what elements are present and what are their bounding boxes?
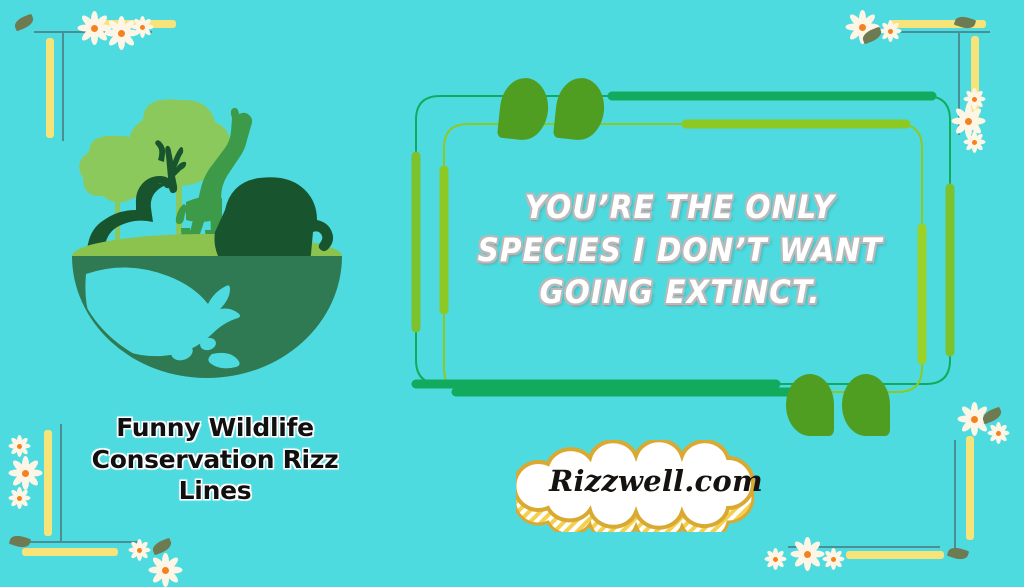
leaf-icon <box>151 538 174 556</box>
quote-text: YOU’RE THE ONLY SPECIES I DON’T WANT GOI… <box>441 186 919 314</box>
leaf-icon <box>13 14 36 32</box>
flower-icon <box>77 11 111 45</box>
quote-line-3: GOING EXTINCT. <box>441 271 919 314</box>
border-line-bottom-right <box>788 546 940 548</box>
headline-line-2: Conservation Rizz <box>40 444 390 476</box>
flower-icon <box>822 548 844 570</box>
leaf-icon <box>981 407 1004 425</box>
site-badge[interactable]: Rizzwell.com <box>516 440 796 532</box>
headline-line-3: Lines <box>40 475 390 507</box>
flower-icon <box>963 88 985 110</box>
wildlife-illustration <box>62 98 352 388</box>
border-bar-top-right <box>890 20 986 28</box>
border-bar-bottom-left <box>22 548 118 556</box>
border-bar-right-bottom <box>966 436 974 540</box>
border-line-top-left <box>34 31 152 33</box>
quote-mark-open-icon <box>500 78 610 140</box>
flower-icon <box>790 537 824 571</box>
flower-icon <box>104 16 138 50</box>
flower-icon <box>963 131 985 153</box>
quote-line-1: YOU’RE THE ONLY <box>441 186 919 229</box>
leaf-icon <box>947 545 969 562</box>
flower-icon <box>845 10 879 44</box>
flower-icon <box>8 487 30 509</box>
flower-icon <box>987 422 1009 444</box>
leaf-icon <box>861 27 884 45</box>
headline-line-1: Funny Wildlife <box>40 412 390 444</box>
flower-icon <box>128 539 150 561</box>
quote-line-2: SPECIES I DON’T WANT <box>441 229 919 272</box>
flower-icon <box>8 435 30 457</box>
badge-label: Rizzwell.com <box>516 440 796 522</box>
leaf-icon <box>954 14 976 31</box>
flower-icon <box>148 553 182 587</box>
flower-icon <box>8 456 42 490</box>
flower-icon <box>764 548 786 570</box>
border-bar-left-top <box>46 38 54 138</box>
border-line-bottom-left <box>26 541 140 543</box>
border-line-top-right <box>898 31 990 33</box>
border-bar-right-top <box>971 36 979 130</box>
border-line-right-bottom <box>954 440 956 552</box>
flower-icon <box>131 16 153 38</box>
page-title: Funny Wildlife Conservation Rizz Lines <box>40 412 390 507</box>
quote-mark-close-icon <box>786 374 896 436</box>
border-bar-bottom-right <box>846 551 944 559</box>
border-bar-top-left <box>88 20 176 28</box>
poster-canvas: Funny Wildlife Conservation Rizz Lines <box>0 0 1024 576</box>
leaf-icon <box>9 533 31 550</box>
flower-icon <box>879 20 901 42</box>
